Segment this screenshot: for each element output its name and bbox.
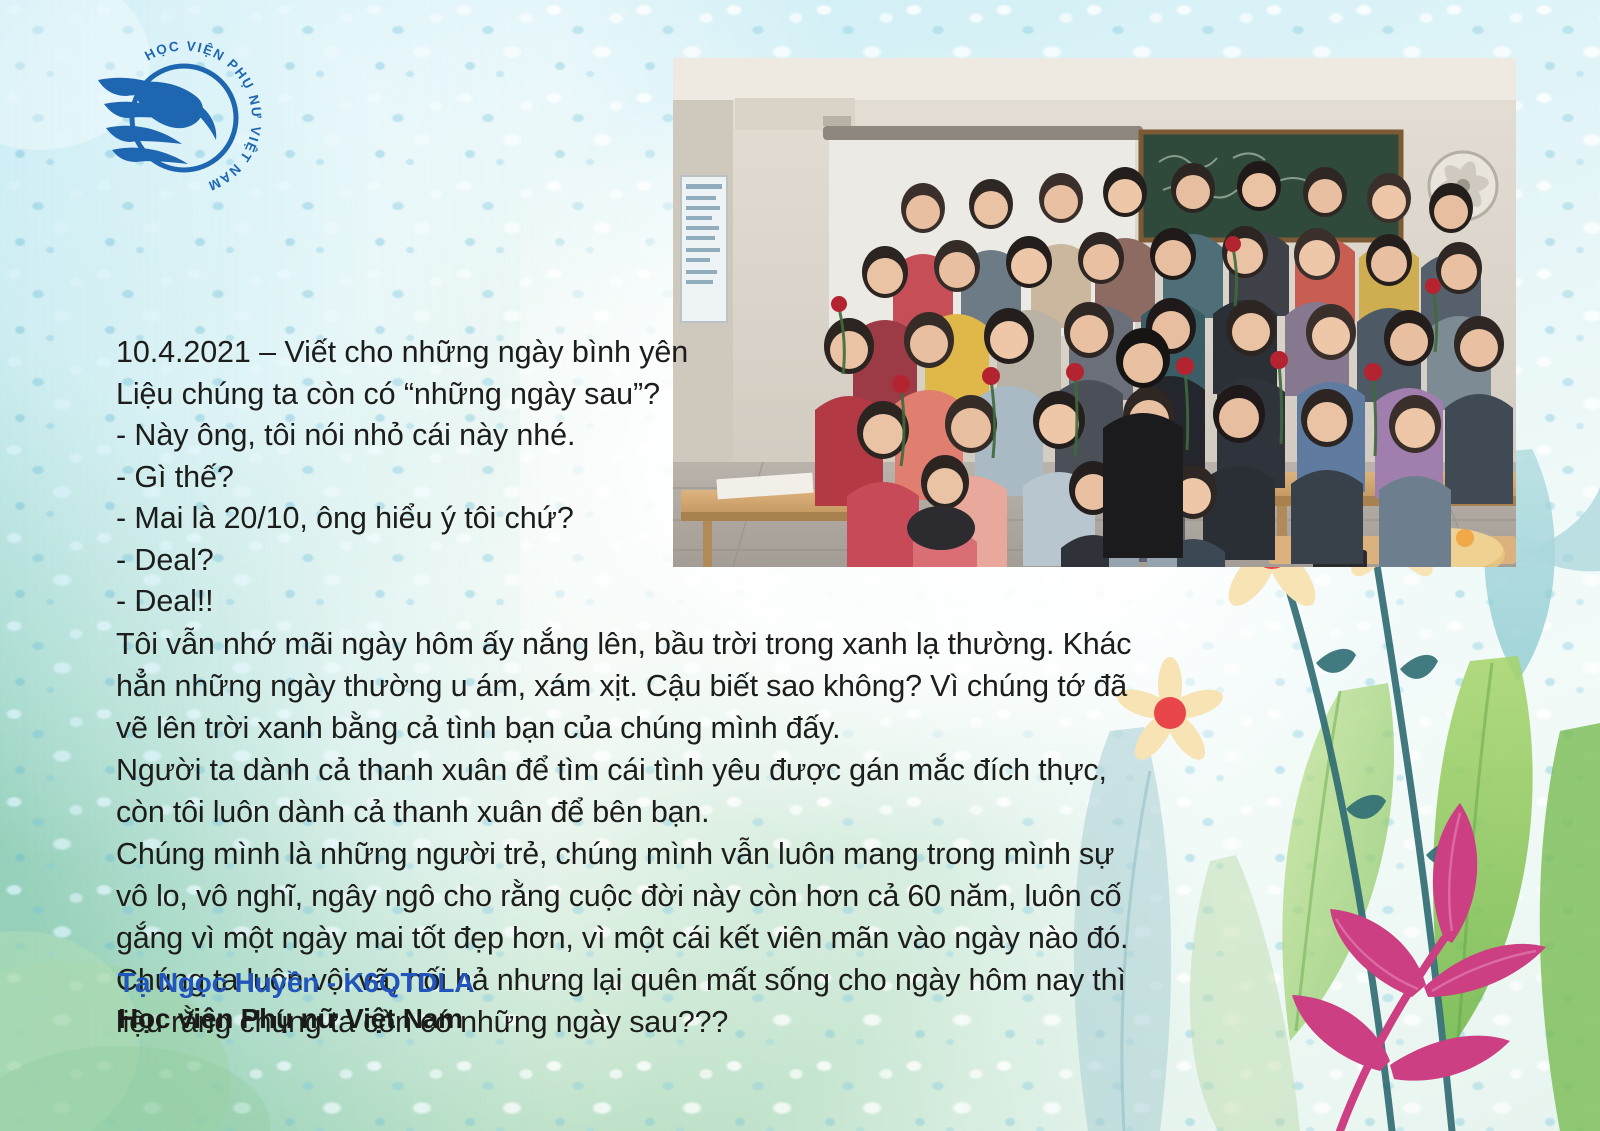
dove-icon (98, 66, 236, 170)
body-line: vô lo, vô nghĩ, ngây ngô cho rằng cuộc đ… (116, 875, 1076, 917)
story-text: 10.4.2021 – Viết cho những ngày bình yên… (116, 332, 1076, 1043)
intro-line: - Deal!! (116, 581, 716, 623)
author-name: Tạ Ngọc Huyền - K6QTDLA (118, 965, 474, 1001)
poster-canvas: HỌC VIỆN PHỤ NỮ VIỆT NAM (0, 0, 1600, 1131)
intro-line: - Gì thế? (116, 457, 716, 499)
intro-line: - Deal? (116, 540, 716, 582)
story-intro: 10.4.2021 – Viết cho những ngày bình yên… (116, 332, 716, 623)
intro-line: - Này ông, tôi nói nhỏ cái này nhé. (116, 415, 716, 457)
signature-block: Tạ Ngọc Huyền - K6QTDLA Học viện Phụ nữ … (118, 965, 474, 1037)
body-line: gắng vì một ngày mai tốt đẹp hơn, vì một… (116, 917, 1076, 959)
author-organization: Học viện Phụ nữ Việt Nam (118, 1001, 474, 1037)
body-line: vẽ lên trời xanh bằng cả tình bạn của ch… (116, 707, 1076, 749)
body-line: hẳn những ngày thường u ám, xám xịt. Cậu… (116, 665, 1076, 707)
body-line: còn tôi luôn dành cả thanh xuân để bên b… (116, 791, 1076, 833)
body-line: Người ta dành cả thanh xuân để tìm cái t… (116, 749, 1076, 791)
intro-line: Liệu chúng ta còn có “những ngày sau”? (116, 374, 716, 416)
intro-line: 10.4.2021 – Viết cho những ngày bình yên (116, 332, 716, 374)
pink-branch-decor (1292, 803, 1546, 1131)
body-line: Tôi vẫn nhớ mãi ngày hôm ấy nắng lên, bầ… (116, 623, 1076, 665)
institution-logo: HỌC VIỆN PHỤ NỮ VIỆT NAM (86, 40, 262, 200)
body-line: Chúng mình là những người trẻ, chúng mìn… (116, 833, 1076, 875)
intro-line: - Mai là 20/10, ông hiểu ý tôi chứ? (116, 498, 716, 540)
